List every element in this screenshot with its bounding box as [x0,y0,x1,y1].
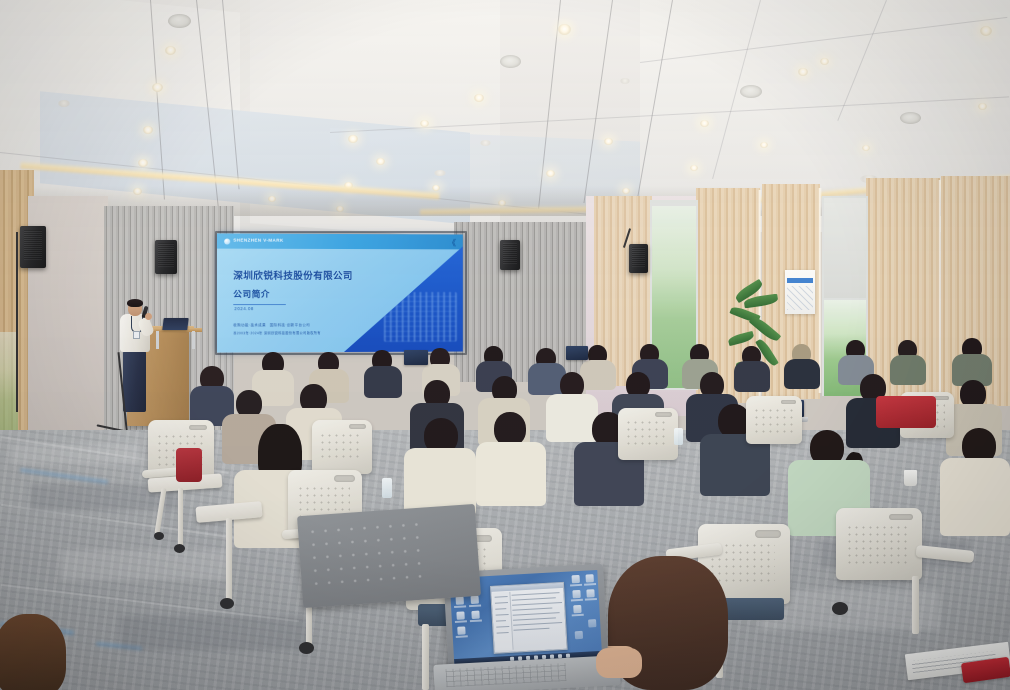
person-icon [734,361,770,392]
slide-date: 2024.08 [234,306,254,311]
slide-corner-mark: 《 [448,237,456,248]
person-icon [784,359,820,389]
ceiling-downlight-icon [798,68,808,76]
presentation-slide: SHENZHEN V-MARK 《 深圳欣锐科技股份有限公司 公司简介 2024… [217,233,463,352]
person-icon [890,355,926,385]
ceiling-downlight-icon [978,103,987,110]
water-bottle [674,428,683,445]
ceiling-downlight-icon [604,138,613,145]
person-icon [546,394,598,442]
chair-icon [312,420,372,474]
presenter-badge [133,331,140,339]
ceiling-speaker-icon [168,14,191,28]
meeting-room-photo: SHENZHEN V-MARK 《 深圳欣锐科技股份有限公司 公司简介 2024… [0,0,1010,690]
ceiling-downlight-icon [165,46,176,55]
ceiling-speaker-icon [740,85,762,98]
person-icon [0,614,66,690]
water-bottle [382,478,392,498]
chair-caster [154,532,164,540]
loudspeaker-icon [20,226,46,268]
podium-leg [192,331,195,349]
person-icon [364,366,402,398]
slide-title: 深圳欣锐科技股份有限公司 [233,268,353,282]
slide-subtitle: 公司简介 [233,288,270,300]
laptop-icon [566,346,588,360]
company-logo-icon [224,238,230,244]
ceiling-downlight-icon [558,24,571,35]
red-bag [176,448,202,482]
presenter-legs [123,350,146,412]
ceiling-vent-icon [58,100,70,107]
presenter-hand [145,313,152,320]
ceiling-downlight-icon [143,126,153,134]
ceiling-speaker-icon [500,55,521,68]
ceiling-vent-icon [620,78,630,84]
loudspeaker-icon [500,240,520,270]
tablet-arm-desk [297,504,481,608]
slide-diagonal-graphic [344,246,463,352]
ceiling-downlight-icon [474,94,484,102]
presenter-hair [127,299,143,307]
person-icon [476,442,546,506]
chair-icon [836,508,922,580]
chair-leg [178,488,183,546]
ceiling-vent-icon [434,170,446,176]
person-hand [596,648,642,678]
ceiling-downlight-icon [820,58,829,65]
chair-icon [618,408,678,460]
ceiling-downlight-icon [700,120,709,127]
laptop-icon [162,318,188,330]
laptop-icon [404,350,428,365]
laptop-app-window[interactable] [490,582,568,654]
speaker-cable [16,232,18,412]
slide-divider [233,304,286,305]
slide-fine-print-1: 收购功能·技术成果 国际科技·创新平台公司 [233,322,310,327]
loudspeaker-icon [629,244,648,273]
ceiling-downlight-icon [546,170,555,177]
ceiling-downlight-icon [690,165,698,171]
window-title-bar[interactable] [491,583,563,592]
loudspeaker-icon [155,240,177,274]
chair-caster [220,598,234,609]
chair-leg [912,576,919,634]
ceiling-downlight-icon [980,26,992,36]
ceiling-speaker-icon [900,112,921,124]
ceiling-downlight-icon [152,83,163,92]
slide-fine-print-2: 本2003年·2024年 深圳欣锐科技股份有限公司版权所有 [233,330,321,335]
product-photo [384,292,457,342]
paper-cup [904,470,917,486]
ceiling-downlight-icon [348,135,358,143]
projection-screen: SHENZHEN V-MARK 《 深圳欣锐科技股份有限公司 公司简介 2024… [217,233,463,352]
podium-leg [156,331,159,349]
person-icon [940,458,1010,536]
ceiling-downlight-icon [376,158,385,165]
ceiling-downlight-icon [138,159,148,167]
ceiling-downlight-icon [420,120,429,127]
company-logo-text: SHENZHEN V-MARK [233,238,283,243]
chair-leg [226,518,232,600]
chair-caster [174,544,185,553]
ceiling-downlight-icon [760,142,768,148]
chair-caster [299,642,314,654]
ceiling-downlight-icon [862,145,870,151]
person-icon [494,412,526,446]
person-icon [580,360,616,390]
chair-icon [746,396,802,444]
ceiling-vent-icon [480,140,491,146]
chair-leg [422,624,429,690]
chair-caster [832,602,848,615]
red-bag [876,396,936,428]
